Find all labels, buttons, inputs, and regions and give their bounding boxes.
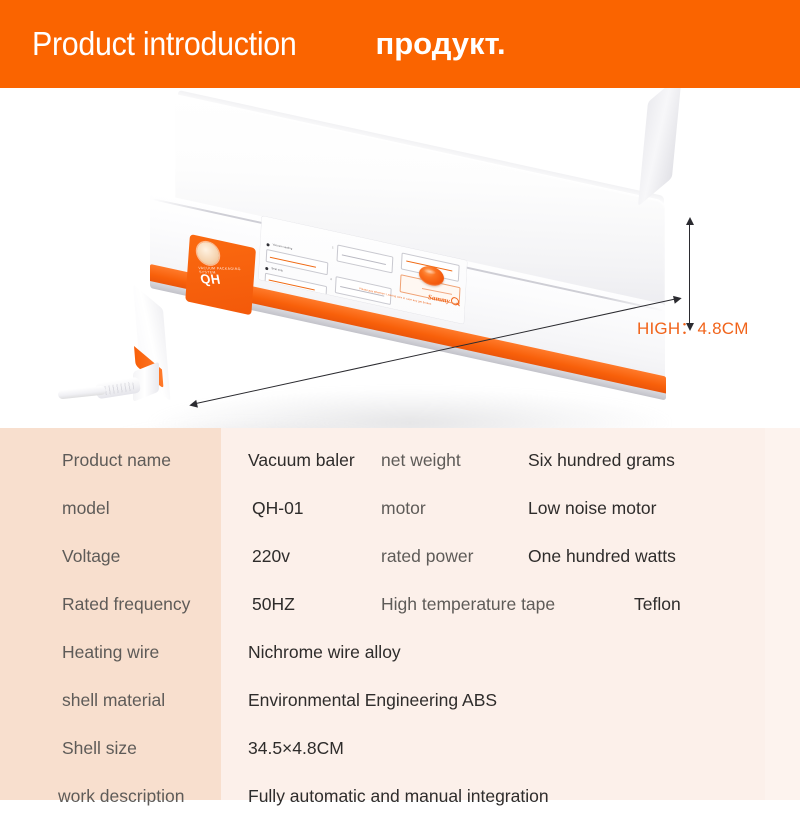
spec-key: High temperature tape: [381, 594, 555, 615]
height-dimension-arrow: [689, 224, 690, 324]
spec-key: net weight: [381, 450, 461, 471]
spec-key: model: [62, 498, 110, 519]
spec-key: Product name: [62, 450, 171, 471]
device-model-sticker-text: VACUUM PACKAGING SYSTEM QH: [198, 266, 259, 298]
table-row: work description Fully automatic and man…: [0, 772, 800, 820]
spec-value: Fully automatic and manual integration: [248, 786, 549, 807]
instruction-heading-text: Seal only: [271, 267, 283, 272]
brand-logo-mark-icon: [451, 296, 459, 306]
header-banner: Product introduction продукт.: [0, 0, 800, 88]
instruction-step-number: 1: [332, 246, 334, 249]
product-image-stage: VACUUM PACKAGING SYSTEM QH Vacuum sealin…: [0, 88, 800, 428]
instruction-heading-text: Vacuum sealing: [273, 243, 293, 250]
spec-value: 34.5×4.8CM: [248, 738, 344, 759]
spec-value: Nichrome wire alloy: [248, 642, 401, 663]
page-title-russian: продукт.: [376, 26, 506, 62]
table-row: model QH-01 motor Low noise motor: [0, 484, 800, 532]
device-sticker-subtext: VACUUM PACKAGING SYSTEM: [198, 266, 254, 275]
spec-key: shell material: [62, 690, 165, 711]
spec-value: Environmental Engineering ABS: [248, 690, 497, 711]
page-title-english: Product introduction: [32, 25, 297, 63]
spec-value: Teflon: [634, 594, 681, 615]
table-row: Heating wire Nichrome wire alloy: [0, 628, 800, 676]
table-row: Product name Vacuum baler net weight Six…: [0, 436, 800, 484]
spec-key: Voltage: [62, 546, 120, 567]
instruction-bullet-icon: [266, 243, 270, 247]
table-row: shell material Environmental Engineering…: [0, 676, 800, 724]
spec-key: rated power: [381, 546, 473, 567]
vacuum-sealer-product-illustration: VACUUM PACKAGING SYSTEM QH Vacuum sealin…: [0, 88, 800, 428]
device-right-end-cap: [638, 88, 682, 206]
table-row: Shell size 34.5×4.8CM: [0, 724, 800, 772]
brand-logo-text: Sammy: [428, 293, 450, 305]
spec-key: work description: [58, 786, 184, 807]
instruction-step-number: 2: [330, 278, 332, 281]
spec-value: Low noise motor: [528, 498, 656, 519]
spec-value: 220v: [252, 546, 290, 567]
spec-key: motor: [381, 498, 426, 519]
spec-value: Six hundred grams: [528, 450, 675, 471]
spec-value: 50HZ: [252, 594, 295, 615]
spec-value: QH-01: [252, 498, 304, 519]
spec-key: Shell size: [62, 738, 137, 759]
instruction-bullet-icon: [265, 267, 269, 271]
spec-value: Vacuum baler: [248, 450, 355, 471]
table-row: Voltage 220v rated power One hundred wat…: [0, 532, 800, 580]
spec-key: Rated frequency: [62, 594, 190, 615]
spec-key: Heating wire: [62, 642, 159, 663]
spec-value: One hundred watts: [528, 546, 676, 567]
specification-table: Product name Vacuum baler net weight Six…: [0, 428, 800, 800]
table-row: Rated frequency 50HZ High temperature ta…: [0, 580, 800, 628]
height-dimension-label: HIGH：4.8CM: [637, 314, 749, 339]
